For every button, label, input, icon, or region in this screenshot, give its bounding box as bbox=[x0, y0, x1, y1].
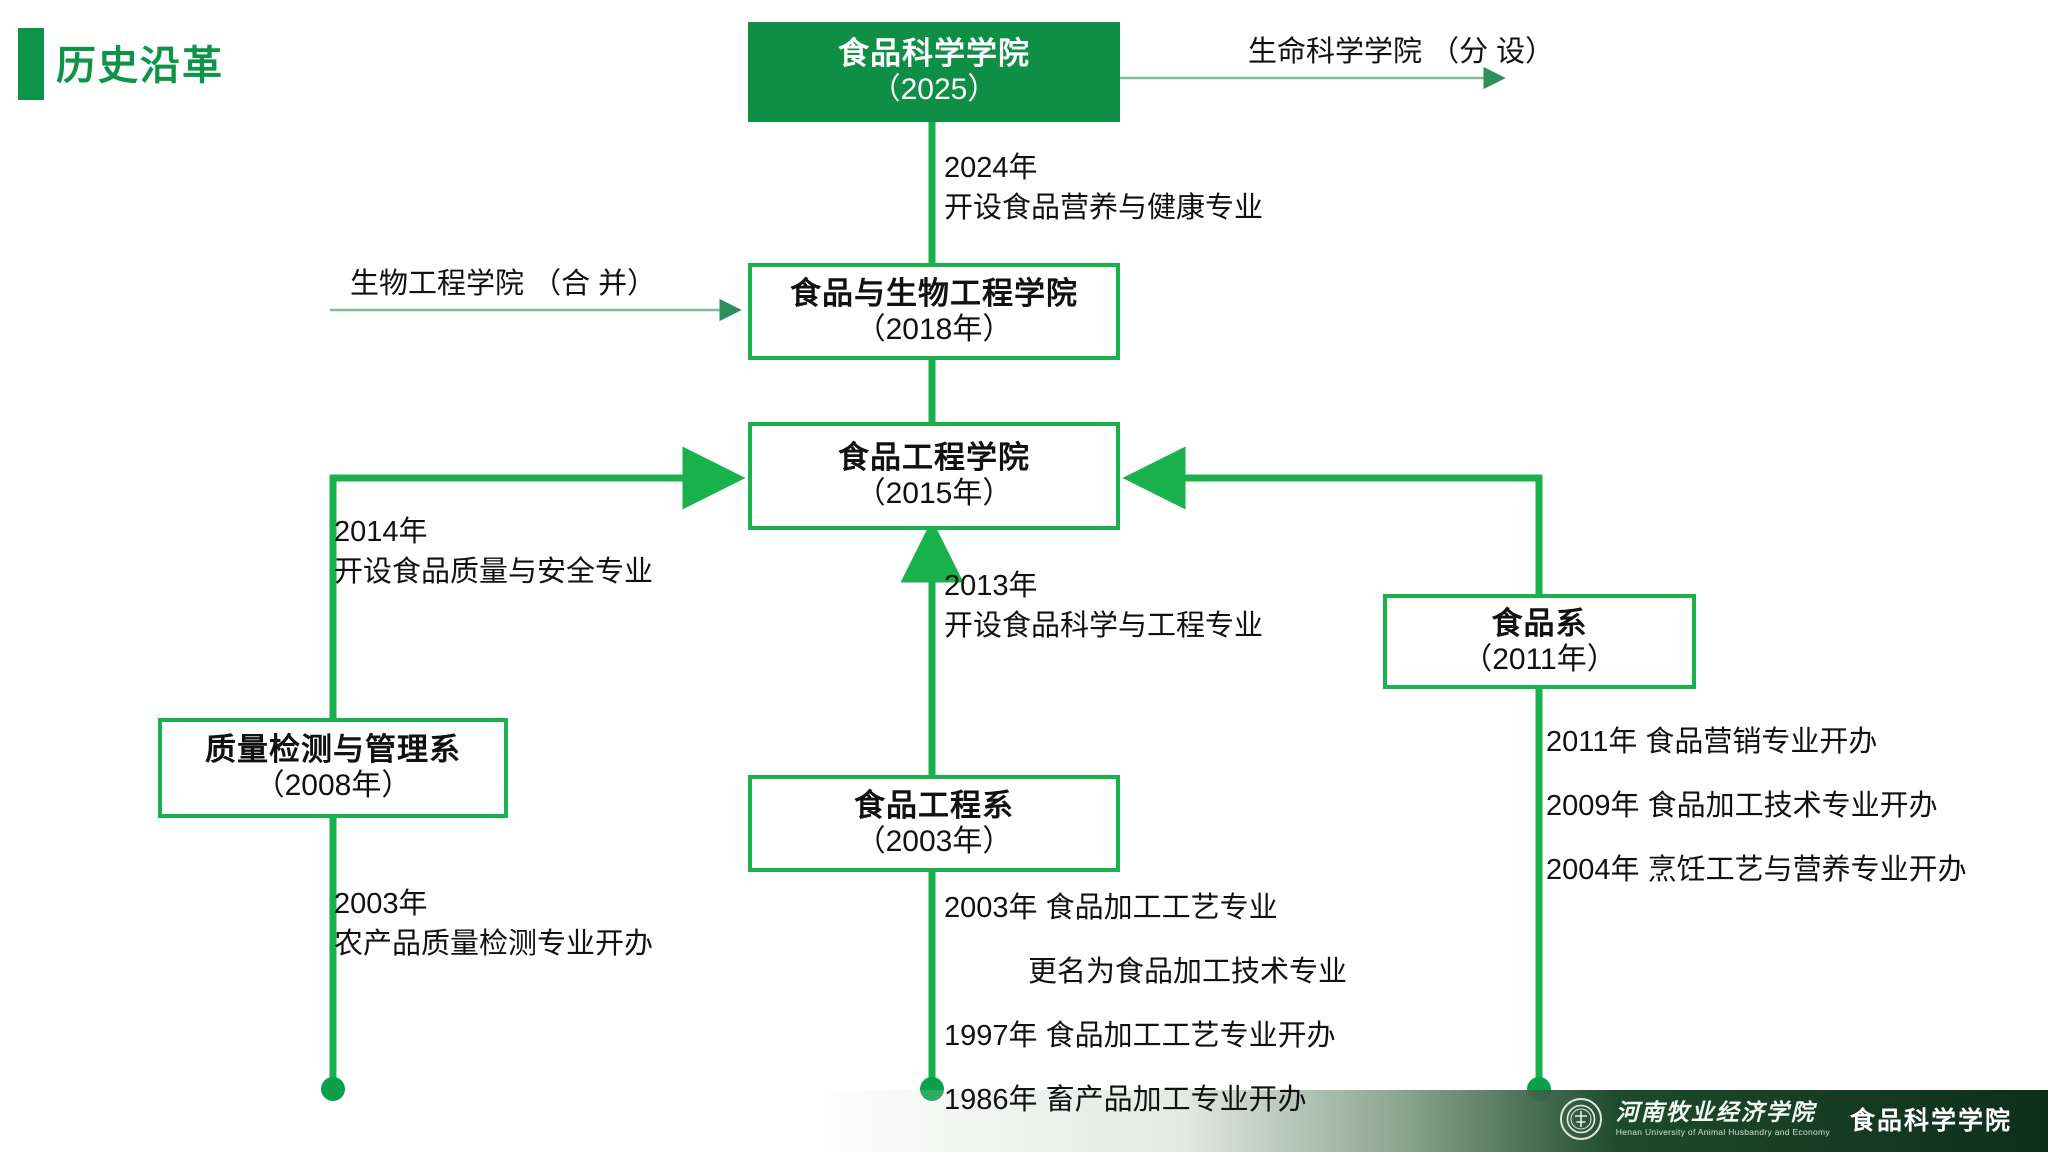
node-2008-year: （2008年） bbox=[255, 768, 412, 804]
note-2013: 2013年 开设食品科学与工程专业 bbox=[944, 566, 1263, 646]
node-2025-title: 食品科学学院 bbox=[838, 36, 1030, 72]
node-2003[interactable]: 食品工程系 （2003年） bbox=[748, 775, 1120, 872]
footer-branding: 河南牧业经济学院 Henan University of Animal Husb… bbox=[1560, 1098, 2012, 1140]
note-center-line4: 1986年 畜产品加工专业开办 bbox=[944, 1080, 1347, 1120]
note-2003-left: 2003年 农产品质量检测专业开办 bbox=[334, 884, 653, 964]
note-right-history: 2011年 食品营销专业开办 2009年 食品加工技术专业开办 2004年 烹饪… bbox=[1546, 722, 1967, 914]
university-name-block: 河南牧业经济学院 Henan University of Animal Husb… bbox=[1616, 1101, 1830, 1137]
note-center-line2: 更名为食品加工技术专业 bbox=[944, 952, 1347, 992]
note-2013-line2: 开设食品科学与工程专业 bbox=[944, 606, 1263, 646]
node-2011[interactable]: 食品系 （2011年） bbox=[1383, 594, 1696, 689]
node-2015-year: （2015年） bbox=[856, 476, 1013, 512]
node-2025[interactable]: 食品科学学院 （2025） bbox=[748, 22, 1120, 122]
node-2018[interactable]: 食品与生物工程学院 （2018年） bbox=[748, 263, 1120, 360]
note-right-line1: 2011年 食品营销专业开办 bbox=[1546, 722, 1967, 762]
caption-bioeng-merge: 生物工程学院 （合 并） bbox=[350, 264, 610, 304]
note-2003-left-line1: 2003年 bbox=[334, 884, 653, 924]
caption-life-science-split: 生命科学学院 （分 设） bbox=[1248, 32, 1508, 72]
university-name-cn: 河南牧业经济学院 bbox=[1616, 1101, 1830, 1124]
node-2003-title: 食品工程系 bbox=[854, 788, 1014, 824]
node-2018-year: （2018年） bbox=[856, 312, 1013, 348]
node-2025-year: （2025） bbox=[871, 72, 998, 108]
footer-department-name: 食品科学学院 bbox=[1850, 1101, 2012, 1137]
note-center-history: 2003年 食品加工工艺专业 更名为食品加工技术专业 1997年 食品加工工艺专… bbox=[944, 888, 1347, 1144]
node-2011-title: 食品系 bbox=[1492, 606, 1588, 642]
node-2003-year: （2003年） bbox=[856, 824, 1013, 860]
note-2013-line1: 2013年 bbox=[944, 566, 1263, 606]
caption-bioeng-line2: （合 并） bbox=[532, 268, 656, 300]
node-2008-title: 质量检测与管理系 bbox=[205, 732, 461, 768]
node-2011-year: （2011年） bbox=[1462, 642, 1617, 678]
note-2024-line1: 2024年 bbox=[944, 148, 1263, 188]
node-2008[interactable]: 质量检测与管理系 （2008年） bbox=[158, 718, 508, 818]
note-right-line3: 2004年 烹饪工艺与营养专业开办 bbox=[1546, 850, 1967, 890]
university-crest-icon bbox=[1560, 1098, 1602, 1140]
caption-life-science-line1: 生命科学学院 bbox=[1248, 36, 1422, 68]
note-2024: 2024年 开设食品营养与健康专业 bbox=[944, 148, 1263, 228]
note-2003-left-line2: 农产品质量检测专业开办 bbox=[334, 924, 653, 964]
note-right-line2: 2009年 食品加工技术专业开办 bbox=[1546, 786, 1967, 826]
note-center-line1: 2003年 食品加工工艺专业 bbox=[944, 888, 1347, 928]
caption-life-science-line2: （分 设） bbox=[1430, 36, 1554, 68]
note-2014-line1: 2014年 bbox=[334, 512, 653, 552]
note-center-line3: 1997年 食品加工工艺专业开办 bbox=[944, 1016, 1347, 1056]
note-2024-line2: 开设食品营养与健康专业 bbox=[944, 188, 1263, 228]
note-2014: 2014年 开设食品质量与安全专业 bbox=[334, 512, 653, 592]
note-2014-line2: 开设食品质量与安全专业 bbox=[334, 552, 653, 592]
caption-bioeng-line1: 生物工程学院 bbox=[350, 268, 524, 300]
node-2015-title: 食品工程学院 bbox=[838, 440, 1030, 476]
node-2015[interactable]: 食品工程学院 （2015年） bbox=[748, 422, 1120, 530]
university-name-en: Henan University of Animal Husbandry and… bbox=[1616, 1128, 1830, 1137]
slide-canvas: 历史沿革 食品科学学院 （2025） 食品与生物工程学院 （2018年） 食品工… bbox=[0, 0, 2048, 1152]
node-2018-title: 食品与生物工程学院 bbox=[790, 276, 1078, 312]
